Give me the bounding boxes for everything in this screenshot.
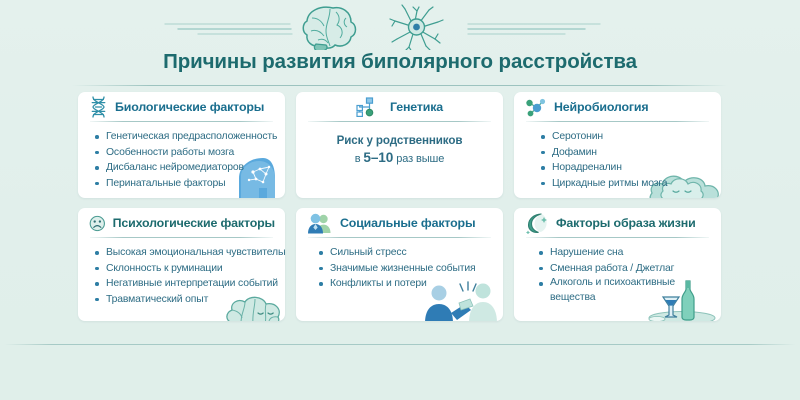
card-header: Генетика	[296, 92, 503, 120]
card-title: Факторы образа жизни	[556, 216, 696, 230]
card-header: Психологические факторы	[78, 208, 285, 236]
crescent-moon-icon	[525, 212, 549, 234]
list-item: Норадреналин	[540, 160, 711, 176]
list-item: Особенности работы мозга	[94, 145, 275, 161]
card-biological[interactable]: Биологические факторы Генетическая предр…	[78, 92, 285, 198]
list-item: Циркадные ритмы мозга	[540, 176, 711, 192]
card-title: Биологические факторы	[115, 100, 264, 114]
cards-row-top: Биологические факторы Генетическая предр…	[78, 92, 722, 198]
card-bullet-list: Серотонин Дофамин Норадреналин Циркадные…	[514, 122, 721, 191]
header-divider	[72, 85, 728, 86]
list-item: Травматический опыт	[94, 292, 275, 308]
card-header: Нейробиология	[514, 92, 721, 120]
genetics-statement-line1: Риск у родственников	[296, 134, 503, 147]
card-header: Факторы образа жизни	[514, 208, 721, 236]
list-item: Алкоголь и психоактивные вещества	[538, 276, 690, 305]
brain-icon	[303, 7, 355, 50]
list-item: Склонность к руминации	[94, 261, 275, 277]
list-item: Генетическая предрасположенность	[94, 129, 275, 145]
list-item: Конфликты и потери	[318, 276, 493, 292]
list-item: Нарушение сна	[538, 245, 711, 261]
list-item: Значимые жизненные события	[318, 261, 493, 277]
list-item: Высокая эмоциональная чувствительность	[94, 245, 275, 261]
cards-row-bottom: Психологические факторы Высокая эмоциона…	[78, 208, 722, 321]
list-item: Сменная работа / Джетлаг	[538, 261, 711, 277]
two-people-icon	[307, 213, 333, 234]
molecule-icon	[525, 97, 547, 117]
list-item: Сильный стресс	[318, 245, 493, 261]
card-title: Психологические факторы	[113, 216, 275, 230]
card-genetics[interactable]: Генетика Риск у родственников в 5–10 раз…	[296, 92, 503, 198]
card-psychological[interactable]: Психологические факторы Высокая эмоциона…	[78, 208, 285, 321]
footer-divider	[4, 344, 796, 345]
card-social[interactable]: Социальные факторы Сильный стресс Значим…	[296, 208, 503, 321]
neuron-icon	[390, 5, 443, 50]
dna-icon	[89, 96, 108, 118]
card-bullet-list: Сильный стресс Значимые жизненные событи…	[296, 238, 503, 292]
list-item: Негативные интерпретации событий	[94, 276, 275, 292]
card-neurobiology[interactable]: Нейробиология Серотонин Дофамин Норадрен…	[514, 92, 721, 198]
list-item: Перинатальные факторы	[94, 176, 275, 192]
card-header: Биологические факторы	[78, 92, 285, 120]
sad-face-icon	[89, 213, 106, 234]
family-tree-icon	[356, 97, 376, 117]
genetics-statement: Риск у родственников в 5–10 раз выше	[296, 122, 503, 165]
header: Причины развития биполярного расстройств…	[0, 0, 800, 86]
list-item: Серотонин	[540, 129, 711, 145]
statement-suffix: раз выше	[393, 153, 444, 165]
page-title: Причины развития биполярного расстройств…	[0, 50, 800, 74]
statement-value: 5–10	[363, 150, 393, 165]
card-title: Социальные факторы	[340, 216, 475, 230]
list-item: Дофамин	[540, 145, 711, 161]
card-bullet-list: Нарушение сна Сменная работа / Джетлаг А…	[514, 238, 721, 305]
infographic-poster: Причины развития биполярного расстройств…	[0, 0, 800, 400]
list-item: Дисбаланс нейромедиаторов	[94, 160, 275, 176]
card-bullet-list: Высокая эмоциональная чувствительность С…	[78, 238, 285, 307]
genetics-statement-line2: в 5–10 раз выше	[296, 150, 503, 165]
card-bullet-list: Генетическая предрасположенность Особенн…	[78, 122, 285, 191]
card-title: Нейробиология	[554, 100, 648, 114]
header-artwork	[0, 2, 800, 50]
card-lifestyle[interactable]: Факторы образа жизни Нарушение сна Сменн…	[514, 208, 721, 321]
card-header: Социальные факторы	[296, 208, 503, 236]
card-title: Генетика	[390, 100, 443, 114]
cards-grid: Биологические факторы Генетическая предр…	[78, 92, 722, 321]
